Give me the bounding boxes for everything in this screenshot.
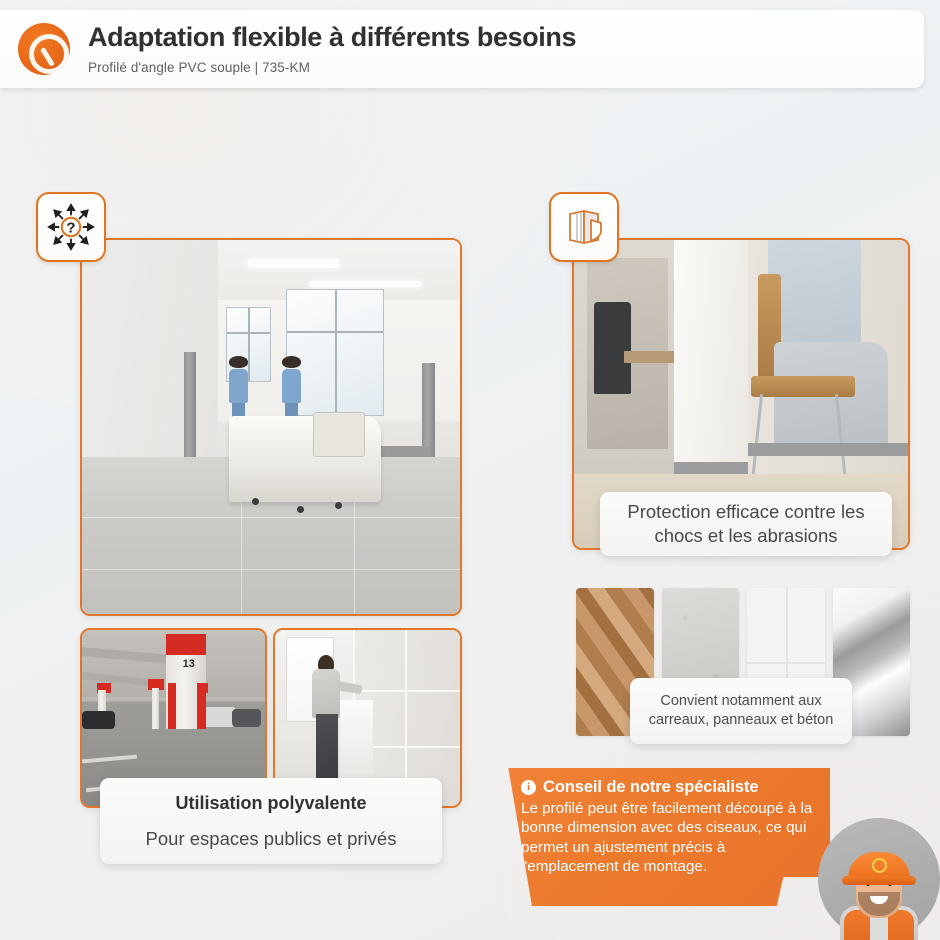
header-text-block: Adaptation flexible à différents besoins…	[88, 23, 576, 75]
caption-protection: Protection efficace contre les chocs et …	[600, 492, 892, 556]
advice-body: Le profilé peut être facilement découpé …	[521, 799, 813, 877]
advice-title: Conseil de notre spécialiste	[543, 778, 758, 797]
corner-profile-shield-icon	[560, 203, 608, 251]
page-header: Adaptation flexible à différents besoins…	[0, 10, 924, 88]
hard-hat-q-logo	[872, 858, 887, 873]
photo-hospital-corridor	[80, 238, 462, 616]
question-mark-arrows-icon: ?	[47, 203, 95, 251]
quickbild-q-logo	[18, 23, 70, 75]
advice-header: i Conseil de notre spécialiste	[521, 778, 814, 797]
page-title: Adaptation flexible à différents besoins	[88, 23, 576, 53]
caption-materials: Convient notamment aux carreaux, panneau…	[630, 678, 852, 744]
badge-flexibility: ?	[36, 192, 106, 262]
caption-polyvalent-title: Utilisation polyvalente	[175, 793, 366, 814]
garage-column-number: 13	[183, 658, 195, 670]
info-icon: i	[521, 780, 536, 795]
hard-hat-brim	[842, 876, 916, 885]
specialist-advice-box: i Conseil de notre spécialiste Le profil…	[497, 768, 830, 906]
svg-text:?: ?	[66, 220, 75, 237]
caption-polyvalent-subtitle: Pour espaces publics et privés	[146, 828, 397, 850]
caption-polyvalent-use: Utilisation polyvalente Pour espaces pub…	[100, 778, 442, 864]
specialist-avatar	[818, 818, 940, 940]
page-subtitle: Profilé d'angle PVC souple | 735-KM	[88, 60, 576, 75]
badge-protection	[549, 192, 619, 262]
